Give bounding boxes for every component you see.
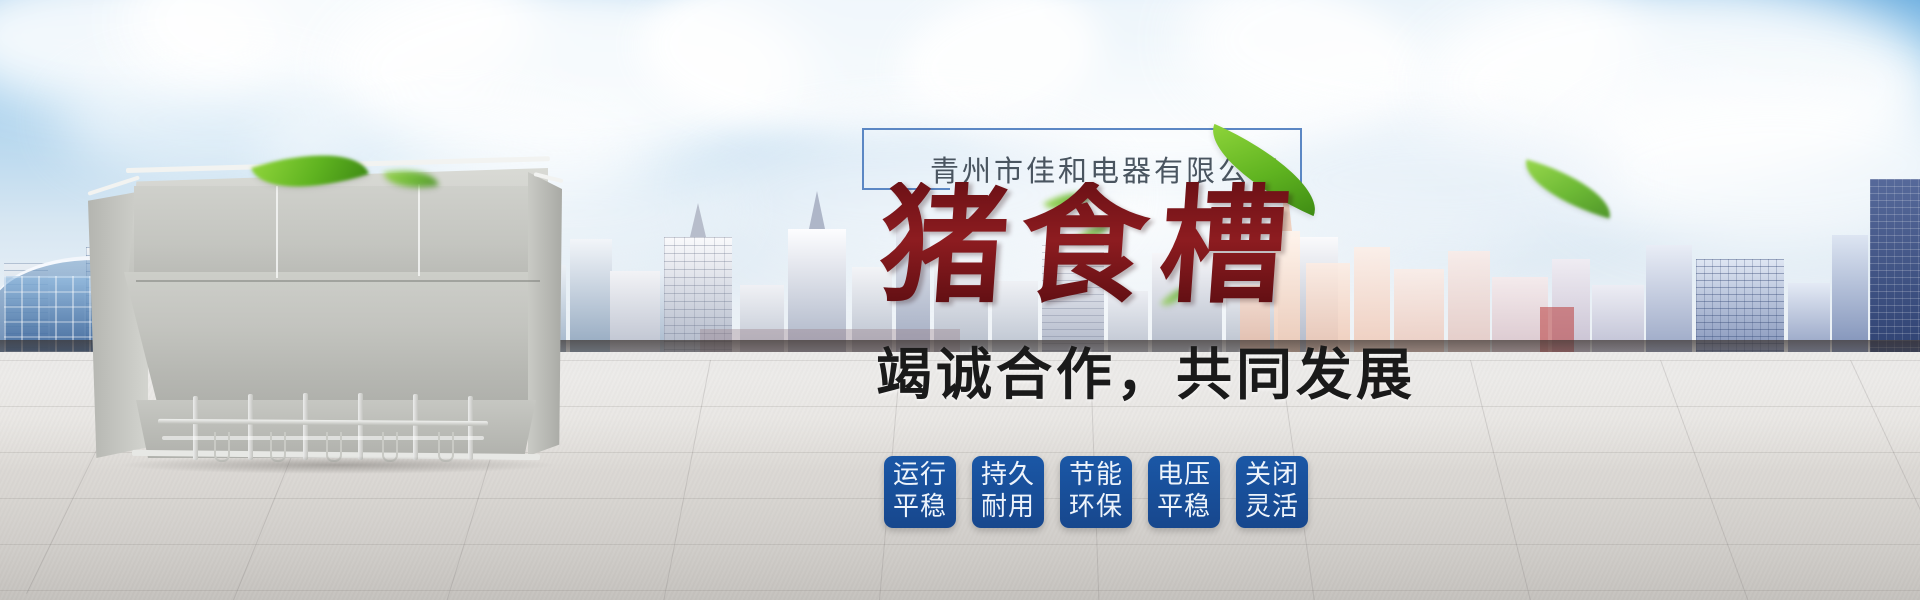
frame-edge-top — [862, 128, 1302, 130]
feature-badge[interactable]: 关闭 灵活 — [1236, 456, 1308, 528]
feature-badge[interactable]: 持久 耐用 — [972, 456, 1044, 528]
badge-line-2: 灵活 — [1245, 492, 1299, 524]
badge-line-2: 耐用 — [981, 492, 1035, 524]
product-image-pig-feeding-trough — [88, 168, 558, 468]
feature-badge[interactable]: 运行 平稳 — [884, 456, 956, 528]
badge-line-1: 电压 — [1157, 460, 1211, 492]
frame-edge-left — [862, 128, 864, 190]
feature-badge[interactable]: 节能 环保 — [1060, 456, 1132, 528]
badge-line-1: 运行 — [893, 460, 947, 492]
headline-title: 猪食槽 — [876, 182, 1305, 310]
feature-badge-list: 运行 平稳 持久 耐用 节能 环保 电压 平稳 关闭 灵活 — [884, 456, 1308, 528]
badge-line-2: 平稳 — [893, 492, 947, 524]
badge-line-1: 关闭 — [1245, 460, 1299, 492]
badge-line-1: 持久 — [981, 460, 1035, 492]
badge-line-2: 环保 — [1069, 492, 1123, 524]
promotional-banner: 青州市佳和电器有限公司 猪食槽 猪食槽 竭诚合作，共同发展 运行 平稳 持久 耐… — [0, 0, 1920, 600]
subtitle-slogan: 竭诚合作，共同发展 — [876, 348, 1416, 404]
feature-badge[interactable]: 电压 平稳 — [1148, 456, 1220, 528]
badge-line-1: 节能 — [1069, 460, 1123, 492]
badge-line-2: 平稳 — [1157, 492, 1211, 524]
